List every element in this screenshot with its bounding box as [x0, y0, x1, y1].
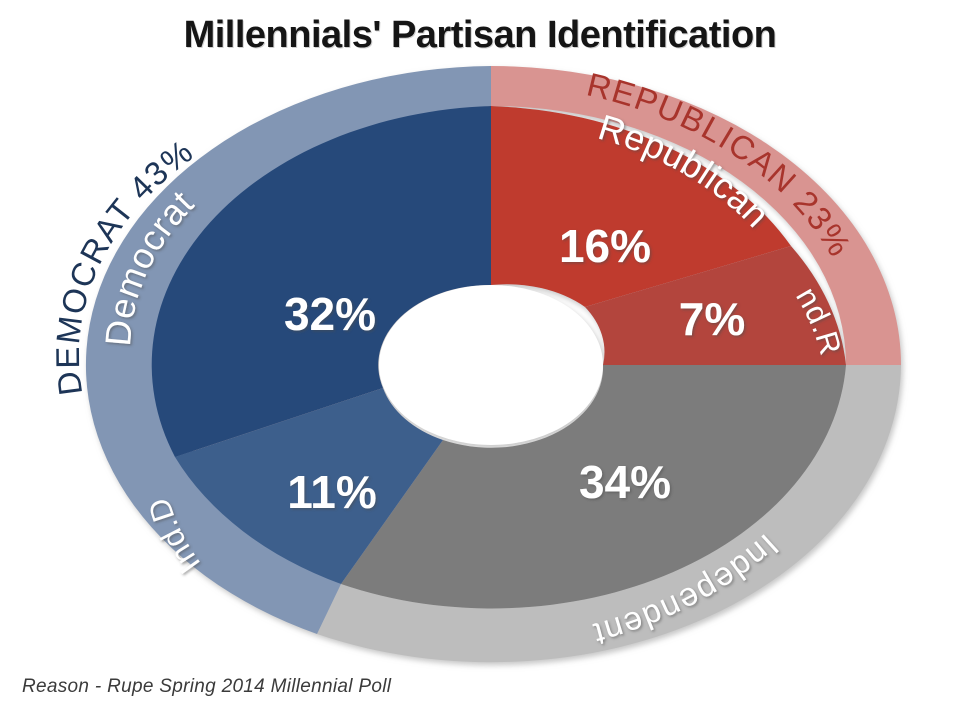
- chart-slide: Millennials' Partisan Identification: [0, 0, 960, 720]
- value-label-independent: 34%: [579, 456, 671, 508]
- value-label-republican: 16%: [559, 220, 651, 272]
- value-label-democrat: 32%: [284, 288, 376, 340]
- donut-center-hole: [379, 285, 603, 445]
- value-label-ind-d: 11%: [287, 466, 377, 518]
- source-note: Reason - Rupe Spring 2014 Millennial Pol…: [22, 676, 391, 698]
- value-label-ind-r: 7%: [679, 293, 745, 345]
- partisan-identification-donut-chart: DEMOCRAT 43% REPUBLICAN 23% Independent …: [0, 0, 960, 720]
